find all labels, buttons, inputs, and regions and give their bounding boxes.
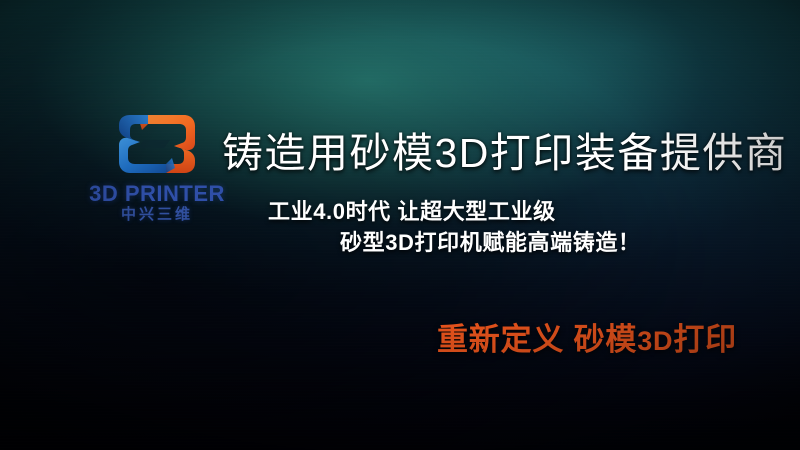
brand-logo-block: 3D PRINTER 中兴三维	[82, 110, 232, 224]
tagline: 重新定义 砂模3D打印	[437, 323, 737, 357]
subhead-line-2: 砂型3D打印机赋能高端铸造！	[268, 227, 748, 258]
tagline-latin: 3D	[637, 326, 673, 356]
promo-banner: 3D PRINTER 中兴三维 铸造用砂模3D打印装备提供商 工业4.0时代 让…	[0, 0, 800, 450]
subhead-block: 工业4.0时代 让超大型工业级 砂型3D打印机赋能高端铸造！	[268, 196, 748, 258]
zhongxing-3d-printer-ribbon-logo-icon	[118, 110, 196, 178]
subhead-line-1: 工业4.0时代 让超大型工业级	[268, 196, 748, 227]
tagline-prefix: 重新定义 砂模	[437, 322, 637, 357]
tagline-suffix: 打印	[673, 322, 737, 357]
headline: 铸造用砂模3D打印装备提供商	[222, 131, 787, 176]
logo-company-name-cn: 中兴三维	[82, 207, 232, 224]
logo-wordmark: 3D PRINTER	[82, 182, 232, 205]
